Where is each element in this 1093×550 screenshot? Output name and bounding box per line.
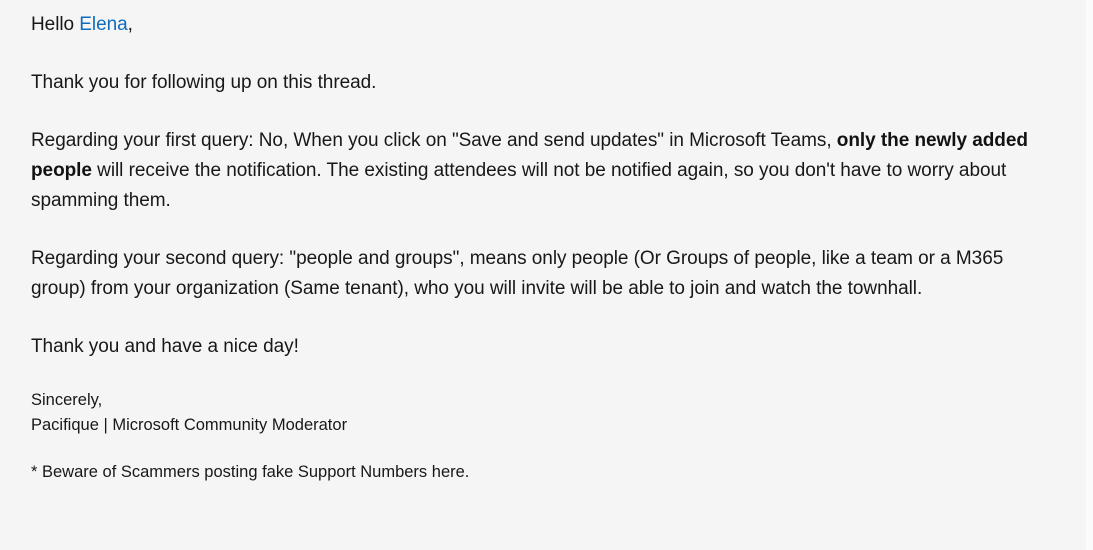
greeting-line: Hello Elena, bbox=[31, 10, 1033, 40]
scam-disclaimer: * Beware of Scammers posting fake Suppor… bbox=[31, 460, 1033, 485]
paragraph-spacer-3 bbox=[31, 304, 1033, 332]
paragraph-thanks: Thank you for following up on this threa… bbox=[31, 68, 1033, 98]
right-edge-strip bbox=[1086, 0, 1093, 550]
second-query-text: Regarding your second query: "people and… bbox=[31, 248, 1003, 299]
paragraph-first-query: Regarding your first query: No, When you… bbox=[31, 126, 1033, 216]
message-surface: Hello Elena, Thank you for following up … bbox=[0, 0, 1093, 550]
first-query-run-1: Regarding your first query: No, When you… bbox=[31, 130, 837, 151]
signature-spacer bbox=[31, 362, 1033, 388]
paragraph-spacer-1 bbox=[31, 98, 1033, 126]
greeting-lead: Hello bbox=[31, 14, 79, 35]
greeting-spacer bbox=[31, 40, 1033, 68]
message-body: Hello Elena, Thank you for following up … bbox=[31, 0, 1033, 485]
signature-closing-line: Sincerely, bbox=[31, 388, 1033, 413]
disclaimer-spacer bbox=[31, 438, 1033, 460]
first-query-run-3: will receive the notification. The exist… bbox=[31, 160, 1006, 211]
recipient-name: Elena bbox=[79, 14, 127, 35]
paragraph-second-query: Regarding your second query: "people and… bbox=[31, 244, 1033, 304]
paragraph-thanks-text: Thank you for following up on this threa… bbox=[31, 72, 376, 93]
paragraph-spacer-2 bbox=[31, 216, 1033, 244]
top-spacer bbox=[31, 0, 1033, 10]
signature-author-line: Pacifique | Microsoft Community Moderato… bbox=[31, 413, 1033, 438]
closing-text: Thank you and have a nice day! bbox=[31, 336, 299, 357]
paragraph-closing: Thank you and have a nice day! bbox=[31, 332, 1033, 362]
greeting-trail: , bbox=[128, 14, 133, 35]
